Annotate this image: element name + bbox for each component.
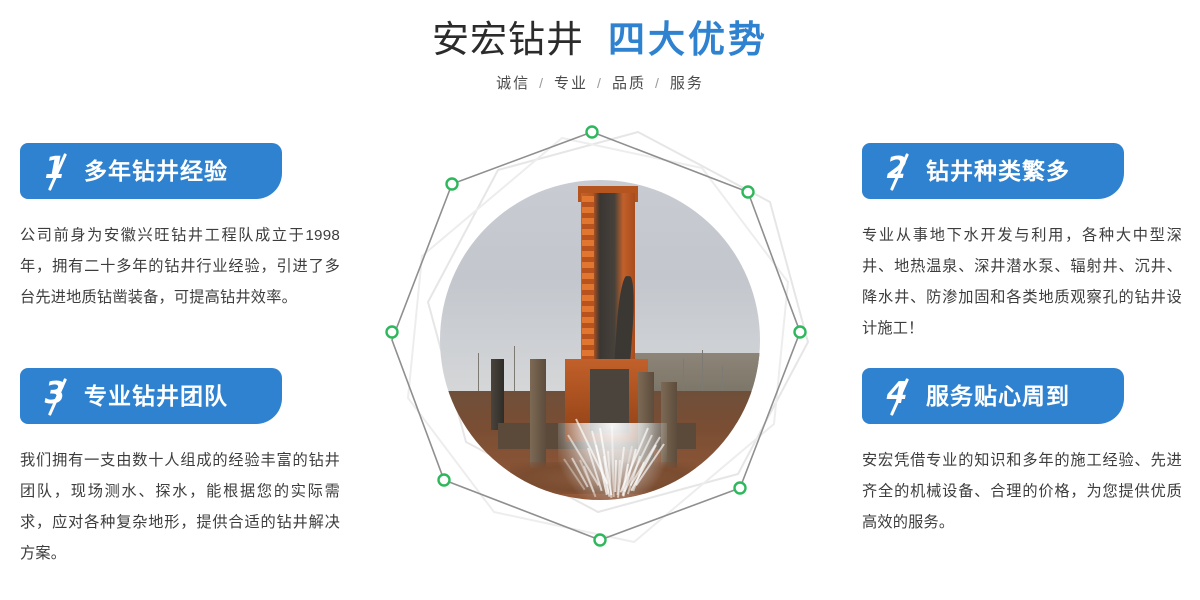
title-company: 安宏钻井 <box>432 19 584 60</box>
subtitle-item-3: 服务 <box>670 75 704 92</box>
feature-badge-2[interactable]: 2 钻井种类繁多 <box>862 143 1124 199</box>
subtitle-item-1: 专业 <box>554 75 588 92</box>
subtitle-separator-2: / <box>655 75 661 91</box>
photo-water-spray <box>558 423 667 500</box>
feature-body-4: 安宏凭借专业的知识和多年的施工经验、先进齐全的机械设备、合理的价格，为您提供优质… <box>862 445 1182 538</box>
number-2-icon: 2 <box>878 149 922 193</box>
subtitle-separator-1: / <box>597 75 603 91</box>
polygon-node-top <box>587 127 598 138</box>
subtitle-item-2: 品质 <box>612 75 646 92</box>
feature-card-3: 3 专业钻井团队 我们拥有一支由数十人组成的经验丰富的钻井团队，现场测水、探水，… <box>20 368 340 569</box>
feature-title-3: 专业钻井团队 <box>84 382 228 410</box>
photo-scene <box>440 180 760 500</box>
page-title: 安宏钻井四大优势 <box>0 16 1200 63</box>
polygon-node-right <box>795 327 806 338</box>
center-illustration <box>370 110 830 570</box>
polygon-node-left <box>387 327 398 338</box>
feature-body-3: 我们拥有一支由数十人组成的经验丰富的钻井团队，现场测水、探水，能根据您的实际需求… <box>20 445 340 569</box>
feature-card-1: 1 多年钻井经验 公司前身为安徽兴旺钻井工程队成立于1998年，拥有二十多年的钻… <box>20 143 340 313</box>
photo-rig-part <box>491 359 504 429</box>
feature-card-4: 4 服务贴心周到 安宏凭借专业的知识和多年的施工经验、先进齐全的机械设备、合理的… <box>862 368 1182 538</box>
subtitle-separator-0: / <box>539 75 545 91</box>
feature-body-2: 专业从事地下水开发与利用，各种大中型深井、地热温泉、深井潜水泵、辐射井、沉井、降… <box>862 220 1182 344</box>
feature-card-2: 2 钻井种类繁多 专业从事地下水开发与利用，各种大中型深井、地热温泉、深井潜水泵… <box>862 143 1182 344</box>
subtitle-keywords: 诚信/专业/品质/服务 <box>0 72 1200 95</box>
drilling-rig-photo <box>440 180 760 500</box>
feature-title-1: 多年钻井经验 <box>84 157 228 185</box>
subtitle-item-0: 诚信 <box>496 75 530 92</box>
number-4-icon: 4 <box>878 374 922 418</box>
title-highlight: 四大优势 <box>608 19 768 60</box>
number-1-icon: 1 <box>36 149 80 193</box>
photo-rig-leg <box>530 359 546 468</box>
feature-badge-4[interactable]: 4 服务贴心周到 <box>862 368 1124 424</box>
feature-badge-1[interactable]: 1 多年钻井经验 <box>20 143 282 199</box>
polygon-node-bottom <box>595 535 606 546</box>
feature-title-2: 钻井种类繁多 <box>926 157 1070 185</box>
feature-badge-3[interactable]: 3 专业钻井团队 <box>20 368 282 424</box>
page-root: 安宏钻井四大优势 诚信/专业/品质/服务 1 多年钻井经验 公司前身为安徽兴旺钻… <box>0 0 1200 600</box>
feature-body-1: 公司前身为安徽兴旺钻井工程队成立于1998年，拥有二十多年的钻井行业经验，引进了… <box>20 220 340 313</box>
feature-title-4: 服务贴心周到 <box>926 382 1070 410</box>
page-header: 安宏钻井四大优势 诚信/专业/品质/服务 <box>0 0 1200 95</box>
number-3-icon: 3 <box>36 374 80 418</box>
